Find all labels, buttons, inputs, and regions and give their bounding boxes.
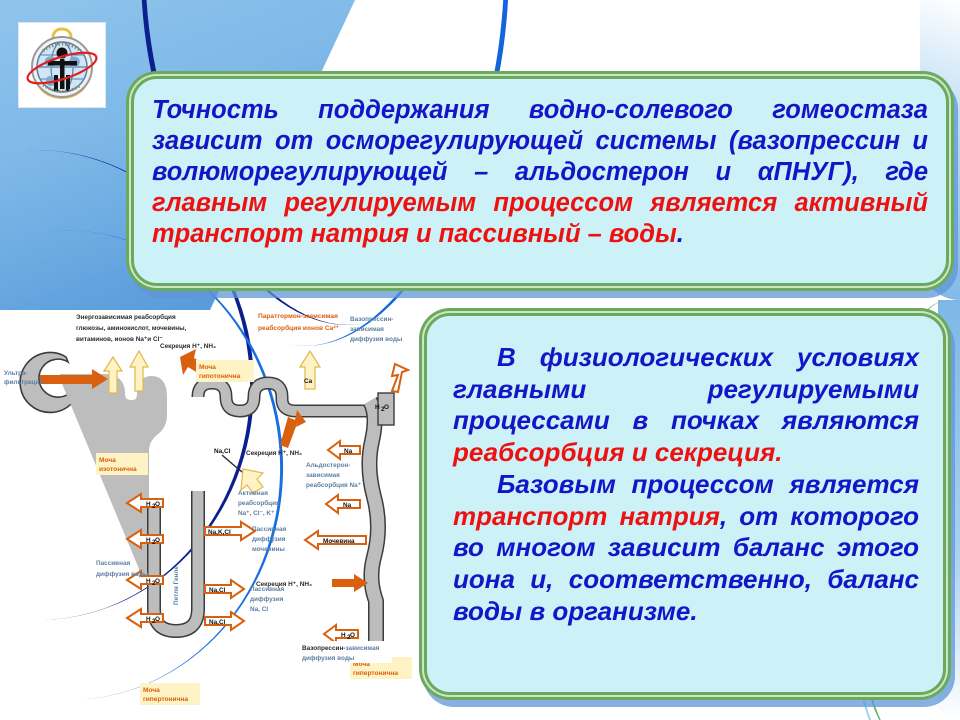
label-passive-nacl: Пассивная диффузия Na, Cl: [250, 586, 285, 613]
organization-logo: [18, 22, 106, 108]
svg-text:Ca: Ca: [304, 378, 313, 385]
svg-text:Мочевина: Мочевина: [323, 538, 355, 545]
svg-text:Na,Cl: Na,Cl: [214, 448, 231, 455]
nakcl-arrow: Na,K,Cl: [205, 522, 255, 540]
svg-text:H: H: [146, 501, 151, 508]
svg-text:реабсорбция: реабсорбция: [238, 499, 280, 507]
label-vasopressin-top: Вазопрессин- зависимая диффузия воды: [350, 316, 403, 343]
calcium-arrow: Ca: [300, 351, 320, 389]
svg-text:Ультра-: Ультра-: [4, 370, 28, 377]
slide-canvas: .tub{fill:#bdbdbd;stroke:#3c3c3c;stroke-…: [0, 0, 960, 720]
label-passive-urea: Пассивная диффузия мочевины: [252, 526, 287, 553]
svg-text:O: O: [384, 404, 389, 411]
box1-period: .: [677, 220, 684, 248]
water-arrow-collecting: H2O: [324, 625, 358, 643]
box2-p2-red: транспорт натрия: [453, 501, 720, 531]
svg-text:Na: Na: [344, 448, 353, 455]
distal-tubule-fill: [198, 383, 370, 411]
box1-line2: зависит от осморегулирующей системы (ваз…: [152, 127, 900, 155]
svg-text:H: H: [375, 404, 380, 411]
svg-text:O: O: [155, 537, 160, 544]
svg-text:диффузия воды: диффузия воды: [302, 655, 355, 662]
svg-text:реабсорбция Na⁺: реабсорбция Na⁺: [306, 481, 361, 489]
svg-text:изотонична: изотонична: [99, 466, 137, 473]
label-secretion-proximal: Секреция H⁺, NH₃: [160, 343, 216, 350]
box2-paragraph-1: В физиологических условиях главными регу…: [453, 342, 919, 469]
svg-text:глюкозы, аминокислот, мочевины: глюкозы, аминокислот, мочевины,: [76, 325, 187, 332]
nacl-arrow-1: Na,Cl: [205, 580, 244, 598]
urea-arrow: Мочевина: [305, 531, 366, 549]
svg-text:O: O: [155, 501, 160, 508]
svg-text:Активная: Активная: [238, 490, 268, 497]
svg-text:Na: Na: [343, 502, 352, 509]
svg-text:зависимая: зависимая: [306, 472, 340, 479]
svg-text:Секреция H⁺, NH₃: Секреция H⁺, NH₃: [160, 343, 216, 350]
svg-text:зависимая: зависимая: [350, 326, 384, 333]
svg-text:H: H: [146, 616, 151, 623]
svg-text:Na,Cl: Na,Cl: [209, 587, 226, 594]
svg-text:фильтрация: фильтрация: [4, 379, 43, 386]
box2-p2-blue-a: Базовым процессом является: [497, 469, 919, 499]
callout-box-bottom: В физиологических условиях главными регу…: [424, 313, 946, 695]
nephron-diagram-svg: .tub{fill:#bdbdbd;stroke:#3c3c3c;stroke-…: [0, 305, 430, 720]
box1-red-line1: главным регулируемым процессом является …: [152, 189, 928, 217]
nacl-arrow-2: Na,Cl: [205, 612, 244, 630]
emblem-icon: [19, 23, 105, 107]
svg-text:Паратгормон-зависимая: Паратгормон-зависимая: [258, 313, 338, 320]
label-vasopressin-bottom: Вазопрессин-зависимая диффузия воды: [300, 641, 392, 663]
svg-text:Секреция H⁺, NH₃: Секреция H⁺, NH₃: [246, 450, 302, 457]
svg-text:мочевины: мочевины: [252, 546, 285, 553]
label-secretion-distal: Секреция H⁺, NH₃: [246, 450, 302, 457]
label-urine-hypertonic-loop: Моча гипертонична: [140, 683, 200, 705]
svg-text:Вазопрессин-зависимая: Вазопрессин-зависимая: [302, 645, 380, 652]
svg-text:Na, Cl: Na, Cl: [250, 606, 268, 613]
svg-text:Вазопрессин-: Вазопрессин-: [350, 316, 393, 323]
callout-box-top: Точность поддержания водно-солевого гоме…: [131, 76, 949, 286]
svg-text:Моча: Моча: [199, 364, 216, 371]
callout-bottom-text: В физиологических условиях главными регу…: [427, 316, 943, 637]
label-urine-isotonic: Моча изотонична: [96, 453, 148, 475]
nephron-diagram: .tub{fill:#bdbdbd;stroke:#3c3c3c;stroke-…: [0, 305, 430, 720]
svg-text:Энергозависимая реабсорбция: Энергозависимая реабсорбция: [76, 313, 176, 321]
box1-line1: Точность поддержания водно-солевого гоме…: [152, 96, 928, 124]
secretion-arrow-collecting: [332, 574, 368, 592]
label-energy-reabsorption: Энергозависимая реабсорбция глюкозы, ами…: [76, 313, 187, 343]
svg-text:гипертонична: гипертонична: [143, 696, 188, 703]
loop-of-henle-outline: [154, 491, 198, 631]
svg-text:H: H: [146, 578, 151, 585]
sodium-arrow-2: Na: [326, 495, 360, 513]
callout-top-text: Точность поддержания водно-солевого гоме…: [134, 79, 946, 261]
svg-text:гипертонична: гипертонична: [353, 670, 398, 677]
box1-red-line2: транспорт натрия и пассивный – воды: [152, 220, 677, 248]
svg-text:гипотонична: гипотонична: [199, 373, 241, 380]
label-urine-hypotonic: Моча гипотонична: [196, 360, 254, 382]
svg-text:диффузия воды: диффузия воды: [96, 571, 149, 578]
svg-text:диффузия: диффузия: [250, 596, 284, 603]
svg-text:Пассивная: Пассивная: [252, 526, 287, 533]
svg-text:Моча: Моча: [99, 457, 116, 464]
svg-text:H: H: [341, 632, 346, 639]
box2-p1-blue: В физиологических условиях главными регу…: [453, 342, 919, 435]
svg-text:Na,K,Cl: Na,K,Cl: [208, 529, 231, 536]
label-pth: Паратгормон-зависимая реабсорбция ионов …: [258, 313, 340, 332]
svg-text:O: O: [155, 578, 160, 585]
sodium-arrow-1: Na: [328, 441, 360, 459]
label-aldosterone: Альдостерон- зависимая реабсорбция Na⁺: [306, 462, 361, 489]
svg-text:Альдостерон-: Альдостерон-: [306, 462, 351, 469]
svg-text:диффузия воды: диффузия воды: [350, 336, 403, 343]
svg-text:Na,Cl: Na,Cl: [209, 619, 226, 626]
svg-text:Na⁺, Cl⁻, K⁺: Na⁺, Cl⁻, K⁺: [238, 510, 274, 517]
svg-text:O: O: [155, 616, 160, 623]
svg-text:Пассивная: Пассивная: [96, 560, 131, 567]
svg-text:Пассивная: Пассивная: [250, 586, 285, 593]
svg-text:диффузия: диффузия: [252, 536, 286, 543]
box2-paragraph-2: Базовым процессом является транспорт нат…: [453, 469, 919, 628]
svg-text:Петля Генле: Петля Генле: [173, 566, 180, 605]
svg-text:витаминов, ионов Na⁺и Cl⁻: витаминов, ионов Na⁺и Cl⁻: [76, 336, 163, 343]
label-loop-of-henle: Петля Генле: [173, 566, 180, 605]
label-active-reabsorption: Активная реабсорбция Na⁺, Cl⁻, K⁺: [238, 490, 280, 517]
svg-text:Моча: Моча: [143, 687, 160, 694]
box2-p1-red: реабсорбция и секреция.: [453, 437, 783, 467]
svg-text:H: H: [146, 537, 151, 544]
svg-text:O: O: [350, 632, 355, 639]
svg-text:реабсорбция ионов Ca²⁺: реабсорбция ионов Ca²⁺: [258, 324, 340, 332]
